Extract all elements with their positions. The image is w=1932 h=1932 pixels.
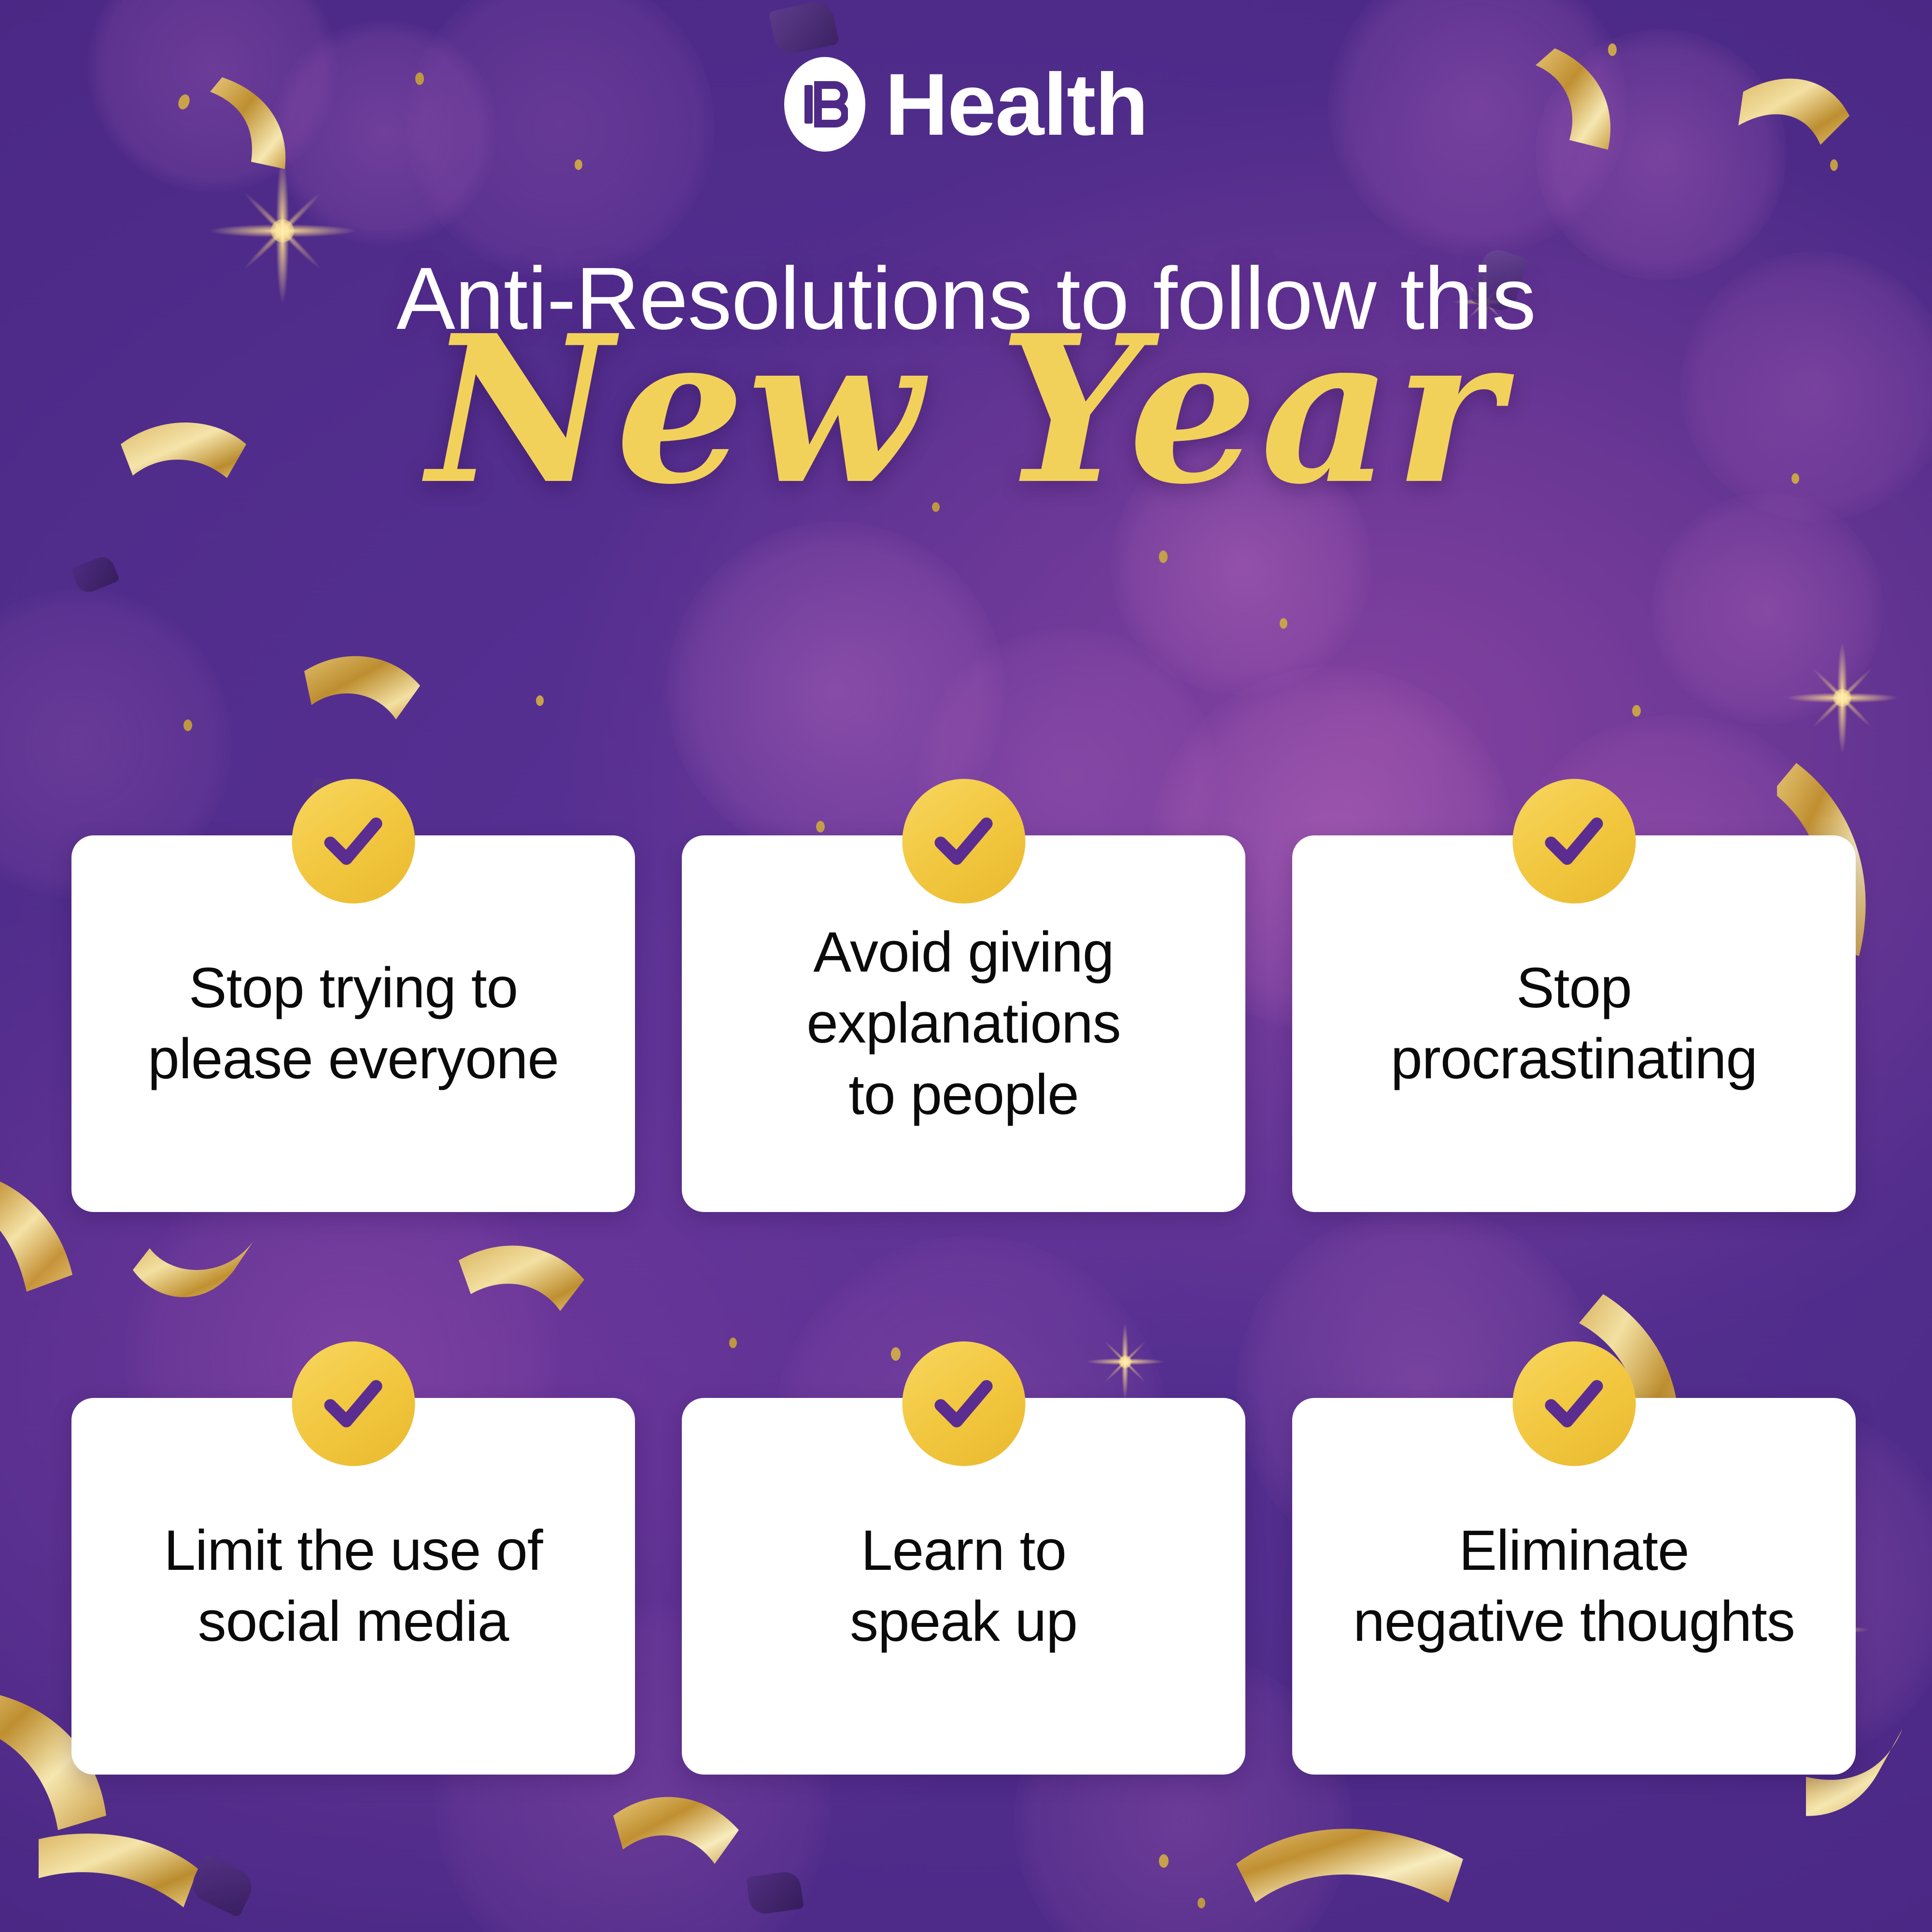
resolution-text: Learn to speak up (850, 1515, 1077, 1658)
brand-name: Health (885, 60, 1147, 148)
resolution-card[interactable]: Learn to speak up (682, 1398, 1245, 1775)
resolutions-grid: Stop trying to please everyone Avoid giv… (71, 835, 1861, 1775)
resolution-card[interactable]: Limit the use of social media (71, 1398, 635, 1775)
resolution-text: Eliminate negative thoughts (1353, 1515, 1795, 1658)
resolution-text: Stop procrastinating (1391, 953, 1757, 1095)
resolution-card[interactable]: Stop trying to please everyone (71, 835, 635, 1212)
resolution-card[interactable]: Eliminate negative thoughts (1292, 1398, 1856, 1775)
check-icon (902, 779, 1025, 903)
check-icon (292, 1341, 415, 1466)
brand-logo: Health (0, 57, 1932, 152)
poster-canvas: Health Anti-Resolutions to follow this N… (0, 0, 1932, 1932)
page-title-script: New Year (0, 309, 1932, 512)
check-icon (292, 779, 415, 903)
resolution-text: Stop trying to please everyone (148, 953, 559, 1095)
resolution-text: Avoid giving explanations to people (806, 917, 1121, 1131)
resolution-card[interactable]: Avoid giving explanations to people (682, 835, 1245, 1212)
resolution-text: Limit the use of social media (164, 1515, 542, 1658)
bajaj-finserv-b-mark-icon (784, 57, 865, 152)
check-icon (1512, 779, 1636, 903)
check-icon (1512, 1341, 1636, 1466)
resolution-card[interactable]: Stop procrastinating (1292, 835, 1856, 1212)
check-icon (902, 1341, 1025, 1466)
